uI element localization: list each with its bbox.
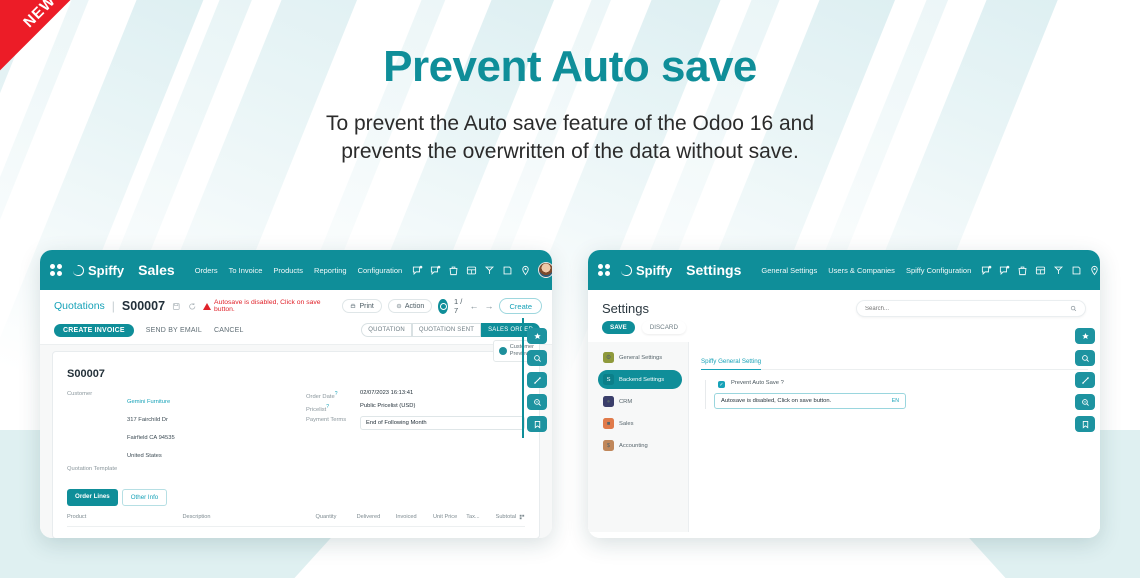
record-title: S00007 bbox=[67, 368, 525, 380]
prevent-auto-save-checkbox[interactable]: ✓ bbox=[718, 381, 725, 388]
activities-icon[interactable] bbox=[999, 265, 1010, 276]
customer-value: Gemini Furniture 317 Fairchild Dr Fairfi… bbox=[127, 390, 175, 462]
star-icon[interactable] bbox=[1075, 328, 1095, 344]
pager-prev-icon[interactable]: ← bbox=[469, 301, 478, 311]
tab-order-lines[interactable]: Order Lines bbox=[67, 489, 118, 506]
sales-icon: ■ bbox=[603, 418, 614, 429]
tab-other-info[interactable]: Other Info bbox=[122, 489, 168, 506]
sidebar-item-backend-settings[interactable]: S Backend Settings bbox=[598, 370, 682, 389]
required-marker: ? bbox=[335, 391, 338, 397]
globe-icon bbox=[499, 347, 507, 355]
grid-icon[interactable] bbox=[1035, 265, 1046, 276]
menu-item-spiffy-configuration[interactable]: Spiffy Configuration bbox=[906, 266, 971, 275]
th-product: Product bbox=[67, 514, 182, 520]
settings-page-title: Settings bbox=[602, 301, 649, 316]
page-subtitle: To prevent the Auto save feature of the … bbox=[0, 110, 1140, 167]
breadcrumb-quotations[interactable]: Quotations bbox=[54, 300, 105, 312]
sheet-tabs: Order Lines Other Info bbox=[67, 489, 525, 506]
sidebar-label: CRM bbox=[619, 399, 632, 405]
stage-bar: QUOTATION QUOTATION SENT SALES ORDER bbox=[361, 323, 540, 337]
settings-search[interactable] bbox=[856, 300, 1086, 317]
customer-address-1: 317 Fairchild Dr bbox=[127, 417, 168, 423]
note-icon[interactable] bbox=[1071, 265, 1082, 276]
form-left-column: Customer Gemini Furniture 317 Fairchild … bbox=[67, 390, 282, 475]
sales-control-bar: Quotations | S00007 Autosave is disabled… bbox=[40, 290, 552, 319]
sales-rail-divider bbox=[522, 318, 524, 438]
spiffy-swoosh-icon bbox=[620, 264, 633, 277]
menu-item-products[interactable]: Products bbox=[273, 266, 303, 275]
search-icon[interactable] bbox=[1070, 305, 1077, 312]
grid-icon[interactable] bbox=[466, 265, 477, 276]
sidebar-item-accounting[interactable]: $ Accounting bbox=[598, 436, 682, 455]
spiffy-icon: S bbox=[603, 374, 614, 385]
create-button[interactable]: Create bbox=[499, 298, 542, 314]
discard-icon[interactable] bbox=[188, 302, 197, 311]
apps-grid-icon[interactable] bbox=[598, 264, 610, 276]
form-right-column: Order Date? 02/07/2023 16:13:41 Pricelis… bbox=[306, 390, 525, 475]
bookmark-icon[interactable] bbox=[1075, 416, 1095, 432]
payment-terms-input[interactable]: End of Following Month bbox=[360, 416, 525, 430]
print-button[interactable]: Print bbox=[342, 299, 381, 313]
search-circle-icon[interactable] bbox=[1075, 350, 1095, 366]
app-name: Settings bbox=[686, 262, 741, 278]
settings-header: Settings bbox=[588, 290, 1100, 321]
action-button[interactable]: Action bbox=[388, 299, 432, 313]
record-indicator-icon[interactable] bbox=[438, 299, 448, 314]
page-title: Prevent Auto save bbox=[0, 42, 1140, 92]
sidebar-item-general-settings[interactable]: ⚙ General Settings bbox=[598, 348, 682, 367]
sales-sheet-wrapper: Customer Preview S00007 Customer Gemini … bbox=[40, 345, 552, 538]
autosave-message-input[interactable]: Autosave is disabled, Click on save butt… bbox=[714, 393, 906, 409]
menu-item-to-invoice[interactable]: To Invoice bbox=[229, 266, 263, 275]
messages-icon[interactable] bbox=[981, 265, 992, 276]
language-badge[interactable]: EN bbox=[892, 398, 899, 404]
prevent-auto-save-label: Prevent Auto Save ? bbox=[731, 380, 784, 388]
activities-icon[interactable] bbox=[430, 265, 441, 276]
search-input[interactable] bbox=[865, 306, 1070, 312]
prevent-auto-save-option: ✓ Prevent Auto Save ? bbox=[714, 380, 1088, 388]
sidebar-label: Accounting bbox=[619, 443, 648, 449]
sidebar-label: Backend Settings bbox=[619, 377, 664, 383]
subtitle-line-2: prevents the overwritten of the data wit… bbox=[341, 140, 799, 163]
sidebar-item-crm[interactable]: ● CRM bbox=[598, 392, 682, 411]
sales-side-rail bbox=[527, 328, 547, 432]
sidebar-label: General Settings bbox=[619, 355, 662, 361]
settings-main: ⚙ General Settings S Backend Settings ● … bbox=[588, 342, 1100, 532]
stage-quotation-sent[interactable]: QUOTATION SENT bbox=[412, 323, 481, 337]
stage-quotation[interactable]: QUOTATION bbox=[361, 323, 412, 337]
th-description: Description bbox=[182, 514, 315, 520]
sales-sheet: Customer Preview S00007 Customer Gemini … bbox=[52, 351, 540, 538]
breadcrumb-separator: | bbox=[112, 299, 115, 313]
apps-grid-icon[interactable] bbox=[50, 264, 62, 276]
settings-content: Spiffy General Setting ✓ Prevent Auto Sa… bbox=[688, 342, 1100, 532]
brand-label: Spiffy bbox=[88, 263, 124, 278]
th-subtotal: Subtotal bbox=[496, 514, 517, 520]
record-form: Customer Gemini Furniture 317 Fairchild … bbox=[67, 390, 525, 475]
customer-name[interactable]: Gemini Furniture bbox=[127, 399, 170, 405]
magnifier-icon[interactable] bbox=[527, 394, 547, 410]
create-invoice-button[interactable]: CREATE INVOICE bbox=[54, 324, 134, 337]
menu-item-general-settings[interactable]: General Settings bbox=[761, 266, 817, 275]
sidebar-label: Sales bbox=[619, 421, 634, 427]
sales-screenshot: Spiffy Sales Orders To Invoice Products … bbox=[40, 250, 552, 538]
discard-button[interactable]: DISCARD bbox=[642, 321, 686, 334]
customer-field: Customer Gemini Furniture 317 Fairchild … bbox=[67, 390, 282, 462]
th-invoiced: Invoiced bbox=[396, 514, 433, 520]
gear-icon bbox=[396, 303, 402, 309]
star-icon[interactable] bbox=[527, 328, 547, 344]
section-tab-spiffy-general-setting[interactable]: Spiffy General Setting bbox=[701, 358, 761, 370]
accounting-icon: $ bbox=[603, 440, 614, 451]
note-icon[interactable] bbox=[502, 265, 513, 276]
menu-item-orders[interactable]: Orders bbox=[195, 266, 218, 275]
order-date-field: Order Date? 02/07/2023 16:13:41 bbox=[306, 390, 525, 400]
order-date-value[interactable]: 02/07/2023 16:13:41 bbox=[360, 390, 413, 400]
quotation-template-label: Quotation Template bbox=[67, 465, 117, 472]
autosave-message-value: Autosave is disabled, Click on save butt… bbox=[721, 398, 892, 404]
pin-icon[interactable] bbox=[520, 265, 531, 276]
payment-terms-field: Payment Terms End of Following Month bbox=[306, 416, 525, 430]
menu-item-reporting[interactable]: Reporting bbox=[314, 266, 347, 275]
app-name: Sales bbox=[138, 262, 175, 278]
column-options-icon[interactable] bbox=[519, 514, 525, 520]
pricelist-label: Pricelist? bbox=[306, 403, 354, 413]
pager-next-icon[interactable]: → bbox=[484, 301, 493, 311]
save-button[interactable]: SAVE bbox=[602, 321, 635, 334]
crm-icon: ● bbox=[603, 396, 614, 407]
send-by-email-button[interactable]: SEND BY EMAIL bbox=[146, 327, 202, 334]
setting-group: ✓ Prevent Auto Save ? Autosave is disabl… bbox=[705, 380, 1088, 409]
save-icon[interactable] bbox=[172, 302, 181, 311]
autosave-warning-text: Autosave is disabled, Click on save butt… bbox=[214, 299, 335, 313]
menu-item-configuration[interactable]: Configuration bbox=[358, 266, 403, 275]
th-unit-price: Unit Price bbox=[433, 514, 466, 520]
print-icon bbox=[350, 303, 356, 309]
order-lines-table-header: Product Description Quantity Delivered I… bbox=[67, 514, 525, 527]
pricelist-value[interactable]: Public Pricelist (USD) bbox=[360, 403, 415, 413]
general-settings-icon: ⚙ bbox=[603, 352, 614, 363]
warning-triangle-icon bbox=[203, 303, 211, 310]
magnifier-icon[interactable] bbox=[1075, 394, 1095, 410]
required-marker: ? bbox=[326, 404, 329, 410]
settings-body: Settings SAVE DISCARD ⚙ General Settings bbox=[588, 290, 1100, 538]
pricelist-label-text: Pricelist bbox=[306, 407, 326, 413]
user-avatar[interactable] bbox=[538, 262, 552, 278]
expand-icon[interactable] bbox=[527, 372, 547, 388]
breadcrumb-record: S00007 bbox=[122, 299, 165, 313]
settings-actions: SAVE DISCARD bbox=[588, 321, 1100, 342]
expand-icon[interactable] bbox=[1075, 372, 1095, 388]
settings-screenshot: Spiffy Settings General Settings Users &… bbox=[588, 250, 1100, 538]
rocket-icon[interactable] bbox=[1053, 265, 1064, 276]
th-delivered: Delivered bbox=[357, 514, 396, 520]
pricelist-field: Pricelist? Public Pricelist (USD) bbox=[306, 403, 525, 413]
sales-navbar: Spiffy Sales Orders To Invoice Products … bbox=[40, 250, 552, 290]
messages-icon[interactable] bbox=[412, 265, 423, 276]
rocket-icon[interactable] bbox=[484, 265, 495, 276]
action-label: Action bbox=[405, 303, 424, 310]
settings-navbar-icons bbox=[981, 262, 1100, 278]
sales-menu: Orders To Invoice Products Reporting Con… bbox=[195, 266, 402, 275]
spiffy-logo[interactable]: Spiffy bbox=[620, 263, 672, 278]
payment-terms-label: Payment Terms bbox=[306, 416, 354, 430]
control-bar-actions: Print Action 1 / 7 ← → Create bbox=[342, 297, 542, 315]
pin-icon[interactable] bbox=[1089, 265, 1100, 276]
search-circle-icon[interactable] bbox=[527, 350, 547, 366]
brand-label: Spiffy bbox=[636, 263, 672, 278]
spiffy-swoosh-icon bbox=[72, 264, 85, 277]
quotation-template-field: Quotation Template bbox=[67, 465, 282, 472]
spiffy-logo[interactable]: Spiffy bbox=[72, 263, 124, 278]
menu-item-users-companies[interactable]: Users & Companies bbox=[828, 266, 895, 275]
bag-icon[interactable] bbox=[448, 265, 459, 276]
autosave-warning: Autosave is disabled, Click on save butt… bbox=[203, 299, 335, 313]
settings-menu: General Settings Users & Companies Spiff… bbox=[761, 266, 971, 275]
order-date-label-text: Order Date bbox=[306, 394, 335, 400]
sales-navbar-icons bbox=[412, 262, 552, 278]
pager-count: 1 / 7 bbox=[454, 297, 463, 315]
customer-label: Customer bbox=[67, 390, 121, 462]
customer-address-2: Fairfield CA 94535 bbox=[127, 435, 175, 441]
bookmark-icon[interactable] bbox=[527, 416, 547, 432]
th-quantity: Quantity bbox=[316, 514, 357, 520]
sales-status-bar: CREATE INVOICE SEND BY EMAIL CANCEL QUOT… bbox=[40, 319, 552, 345]
settings-sidebar: ⚙ General Settings S Backend Settings ● … bbox=[588, 342, 688, 532]
subtitle-line-1: To prevent the Auto save feature of the … bbox=[326, 112, 814, 135]
hero-section: Prevent Auto save To prevent the Auto sa… bbox=[0, 0, 1140, 167]
order-date-label: Order Date? bbox=[306, 390, 354, 400]
cancel-button[interactable]: CANCEL bbox=[214, 327, 244, 334]
sidebar-item-sales[interactable]: ■ Sales bbox=[598, 414, 682, 433]
settings-navbar: Spiffy Settings General Settings Users &… bbox=[588, 250, 1100, 290]
print-label: Print bbox=[359, 303, 373, 310]
th-tax: Tax... bbox=[466, 514, 495, 520]
customer-address-3: United States bbox=[127, 453, 162, 459]
settings-side-rail bbox=[1075, 328, 1095, 432]
bag-icon[interactable] bbox=[1017, 265, 1028, 276]
